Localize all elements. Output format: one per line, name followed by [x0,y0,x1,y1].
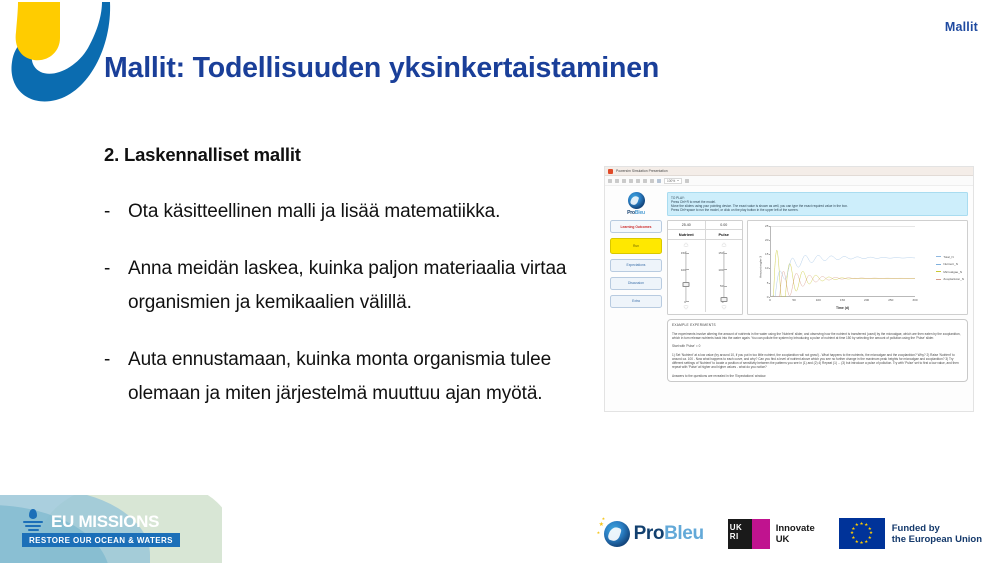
footer-logos: ★ ★ ★ ProBleu UK RI Innovate UK ★★★★★★★★… [604,518,982,549]
chart-curves [770,226,915,297]
probleu-swirl-icon: ★ ★ ★ [604,521,630,547]
example-paragraph: Start with 'Pulse' = 0 [672,344,963,348]
nutrient-label: Nutrient [668,230,706,239]
bullet-text: Anna meidän laskea, kuinka paljon materi… [128,252,604,320]
sliders-panel: 25.40 0.00 Nutrient Pulse [667,220,743,315]
star-icon: ★ [850,531,854,535]
star-icon: ★ [860,541,864,545]
x-tick-label: 150 [840,298,845,302]
legend-label: Total_N [943,255,953,259]
x-tick-label: 200 [864,298,869,302]
x-tick-label: 0 [769,298,771,302]
nutrient-decrement-arrow-icon[interactable] [684,306,688,309]
eu-funding-logo: ★★★★★★★★★★★★ Funded by the European Unio… [839,518,982,549]
toolbar-last-icon[interactable] [636,179,640,183]
ukri-mark: UK RI [728,519,770,549]
example-experiments-panel: EXAMPLE EXPERIMENTS The experiments invo… [667,319,968,383]
legend-label: Zooplankton_N [943,277,964,281]
legend-swatch [936,279,941,280]
toolbar-prev-icon[interactable] [615,179,619,183]
app-toolbar[interactable]: 100% [605,176,973,186]
tick-label: 100 [718,268,723,272]
probleu-wordmark: ProBleu [610,210,662,216]
chart-legend: Total_N Nutrient_N Microalgae_N [936,255,964,285]
pulse-increment-arrow-icon[interactable] [722,243,726,246]
list-item: - Auta ennustamaan, kuinka monta organis… [104,343,604,411]
star-icon: ★ [851,536,855,540]
sidebar-item-run[interactable]: Run [610,238,662,254]
nutrient-slider-thumb[interactable] [683,282,690,287]
star-icon: ★ [597,530,601,535]
star-icon: ★ [864,540,868,544]
body-content: 2. Laskennalliset mallit - Ota käsitteel… [104,144,604,434]
toolbar-layout-icon[interactable] [657,179,661,183]
sidebar-item-discussion[interactable]: Discussion [610,277,662,290]
bullet-text: Ota käsitteellinen malli ja lisää matema… [128,195,500,229]
header-tag: Mallit [945,20,978,34]
list-item: - Anna meidän laskea, kuinka paljon mate… [104,252,604,320]
tick-label: 0 [684,300,686,304]
chart-plot-area: 25 20 15 10 5 0 0 50 100 150 200 250 [770,226,915,297]
star-icon: ★ [860,522,864,526]
subheading: 2. Laskennalliset mallit [104,144,604,166]
probleu-wordmark: ProBleu [634,523,704,545]
bullet-dash: - [104,195,128,229]
panels-row: 25.40 0.00 Nutrient Pulse [667,220,968,315]
toolbar-reset-icon[interactable] [650,179,654,183]
eu-funding-line2: the European Union [892,534,982,545]
zoom-select[interactable]: 100% [664,178,682,184]
legend-item: Zooplankton_N [936,277,964,281]
eu-missions-banner: EU MISSIONS RESTORE OUR OCEAN & WATERS [0,495,222,563]
toolbar-play-icon[interactable] [622,179,626,183]
bullet-dash: - [104,343,128,411]
probleu-bleu: Bleu [635,210,645,216]
example-title: EXAMPLE EXPERIMENTS [672,323,963,327]
legend-swatch [936,264,941,265]
x-tick-label: 100 [816,298,821,302]
legend-label: Nutrient_N [943,262,958,266]
chart-y-axis-label: Amount mg/m-3 [759,256,762,278]
toolbar-next-icon[interactable] [629,179,633,183]
sidebar-item-extra[interactable]: Extra [610,295,662,308]
tick-label: 100 [681,268,686,272]
slider-labels-row: Nutrient Pulse [668,230,742,240]
pulse-value-field[interactable]: 0.00 [706,221,743,229]
eu-missions-title: EU MISSIONS [51,512,159,532]
pulse-slider[interactable]: 150 100 50 0 [706,240,743,312]
pulse-decrement-arrow-icon[interactable] [722,306,726,309]
x-tick-label: 50 [792,298,795,302]
page-title: Mallit: Todellisuuden yksinkertaistamine… [104,52,659,85]
probleu-pro: Pro [627,210,635,216]
y-tick-label: 10 [765,266,768,270]
star-icon: ★ [602,516,606,521]
pulse-label: Pulse [706,230,743,239]
chart-series-line [770,271,915,297]
app-icon [608,169,613,174]
app-title-bar: Powersim Simulation Presentation [605,167,973,176]
nutrient-slider[interactable]: 150 100 50 0 [668,240,706,312]
ukri-innovate-uk-logo: UK RI Innovate UK [728,519,815,549]
x-tick-label: 300 [912,298,917,302]
x-tick-label: 250 [888,298,893,302]
ukri-mark-label: UK RI [730,523,750,541]
star-icon: ★ [868,536,872,540]
innovate-line1: Innovate [776,523,815,534]
zoom-value: 100% [667,178,675,184]
slide: Mallit Mallit: Todellisuuden yksinkertai… [0,0,1000,563]
toolbar-stop-icon[interactable] [643,179,647,183]
probleu-swirl-icon [628,192,645,209]
legend-swatch [936,256,941,257]
example-paragraph: 1) Set 'Nutrient' at a low value (try ar… [672,353,963,370]
innovate-line2: UK [776,534,815,545]
legend-label: Microalgae_N [943,270,962,274]
eu-missions-subtitle: RESTORE OUR OCEAN & WATERS [22,533,180,547]
y-tick-label: 15 [765,252,768,256]
example-paragraph: Answers to the questions are revealed in… [672,374,963,378]
pulse-scale: 150 100 50 0 [712,251,724,301]
eu-flag-icon: ★★★★★★★★★★★★ [839,518,885,549]
app-body: ProBleu Learning Outcomes Run Expectatio… [605,186,973,386]
app-sidebar: ProBleu Learning Outcomes Run Expectatio… [610,192,662,313]
slider-values-row: 25.40 0.00 [668,221,742,230]
star-icon: ★ [855,540,859,544]
nutrient-increment-arrow-icon[interactable] [684,243,688,246]
legend-item: Microalgae_N [936,270,964,274]
innovate-uk-text: Innovate UK [776,523,815,545]
eu-missions-lockup: EU MISSIONS [22,509,159,535]
nutrient-scale: 150 100 50 0 [674,251,686,301]
legend-item: Total_N [936,255,964,259]
tick-label: 50 [720,284,723,288]
list-item: - Ota käsitteellinen malli ja lisää mate… [104,195,604,229]
probleu-bleu: Bleu [664,523,704,544]
embedded-app-screenshot: Powersim Simulation Presentation 100% P [604,166,974,412]
slider-controls-row: 150 100 50 0 [668,240,742,312]
eu-funding-text: Funded by the European Union [892,523,982,545]
instruction-line: Press Ctrl+space to run the model, or cl… [671,208,964,212]
y-tick-label: 5 [767,281,769,285]
tick-label: 150 [718,251,723,255]
probleu-logo-small: ProBleu [610,192,662,216]
tick-label: 150 [681,251,686,255]
y-tick-label: 25 [765,224,768,228]
chevron-down-icon [677,180,679,181]
bullet-text: Auta ennustamaan, kuinka monta organismi… [128,343,604,411]
toolbar-help-icon[interactable] [685,179,689,183]
probleu-pro: Pro [634,523,664,544]
toolbar-first-icon[interactable] [608,179,612,183]
simulation-chart: 25 20 15 10 5 0 0 50 100 150 200 250 [747,220,968,315]
example-paragraph: The experiments involve altering the amo… [672,332,963,341]
legend-item: Nutrient_N [936,262,964,266]
app-main: TO PLAY: Press Ctrl+R to reset the model… [667,192,968,382]
star-icon: ★ [599,521,604,528]
star-icon: ★ [855,523,859,527]
y-tick-label: 20 [765,238,768,242]
legend-swatch [936,271,941,272]
sidebar-item-expectations[interactable]: Expectations [610,259,662,272]
bullet-dash: - [104,252,128,320]
eu-funding-line1: Funded by [892,523,982,534]
nutrient-value-field[interactable]: 25.40 [668,221,706,229]
instructions-panel: TO PLAY: Press Ctrl+R to reset the model… [667,192,968,216]
water-drop-icon [22,509,44,535]
pulse-slider-thumb[interactable] [720,297,727,302]
sidebar-item-learning-outcomes[interactable]: Learning Outcomes [610,220,662,233]
chart-x-axis-label: Time (d) [770,306,915,310]
probleu-logo: ★ ★ ★ ProBleu [604,521,704,547]
app-window-title: Powersim Simulation Presentation [616,169,668,173]
